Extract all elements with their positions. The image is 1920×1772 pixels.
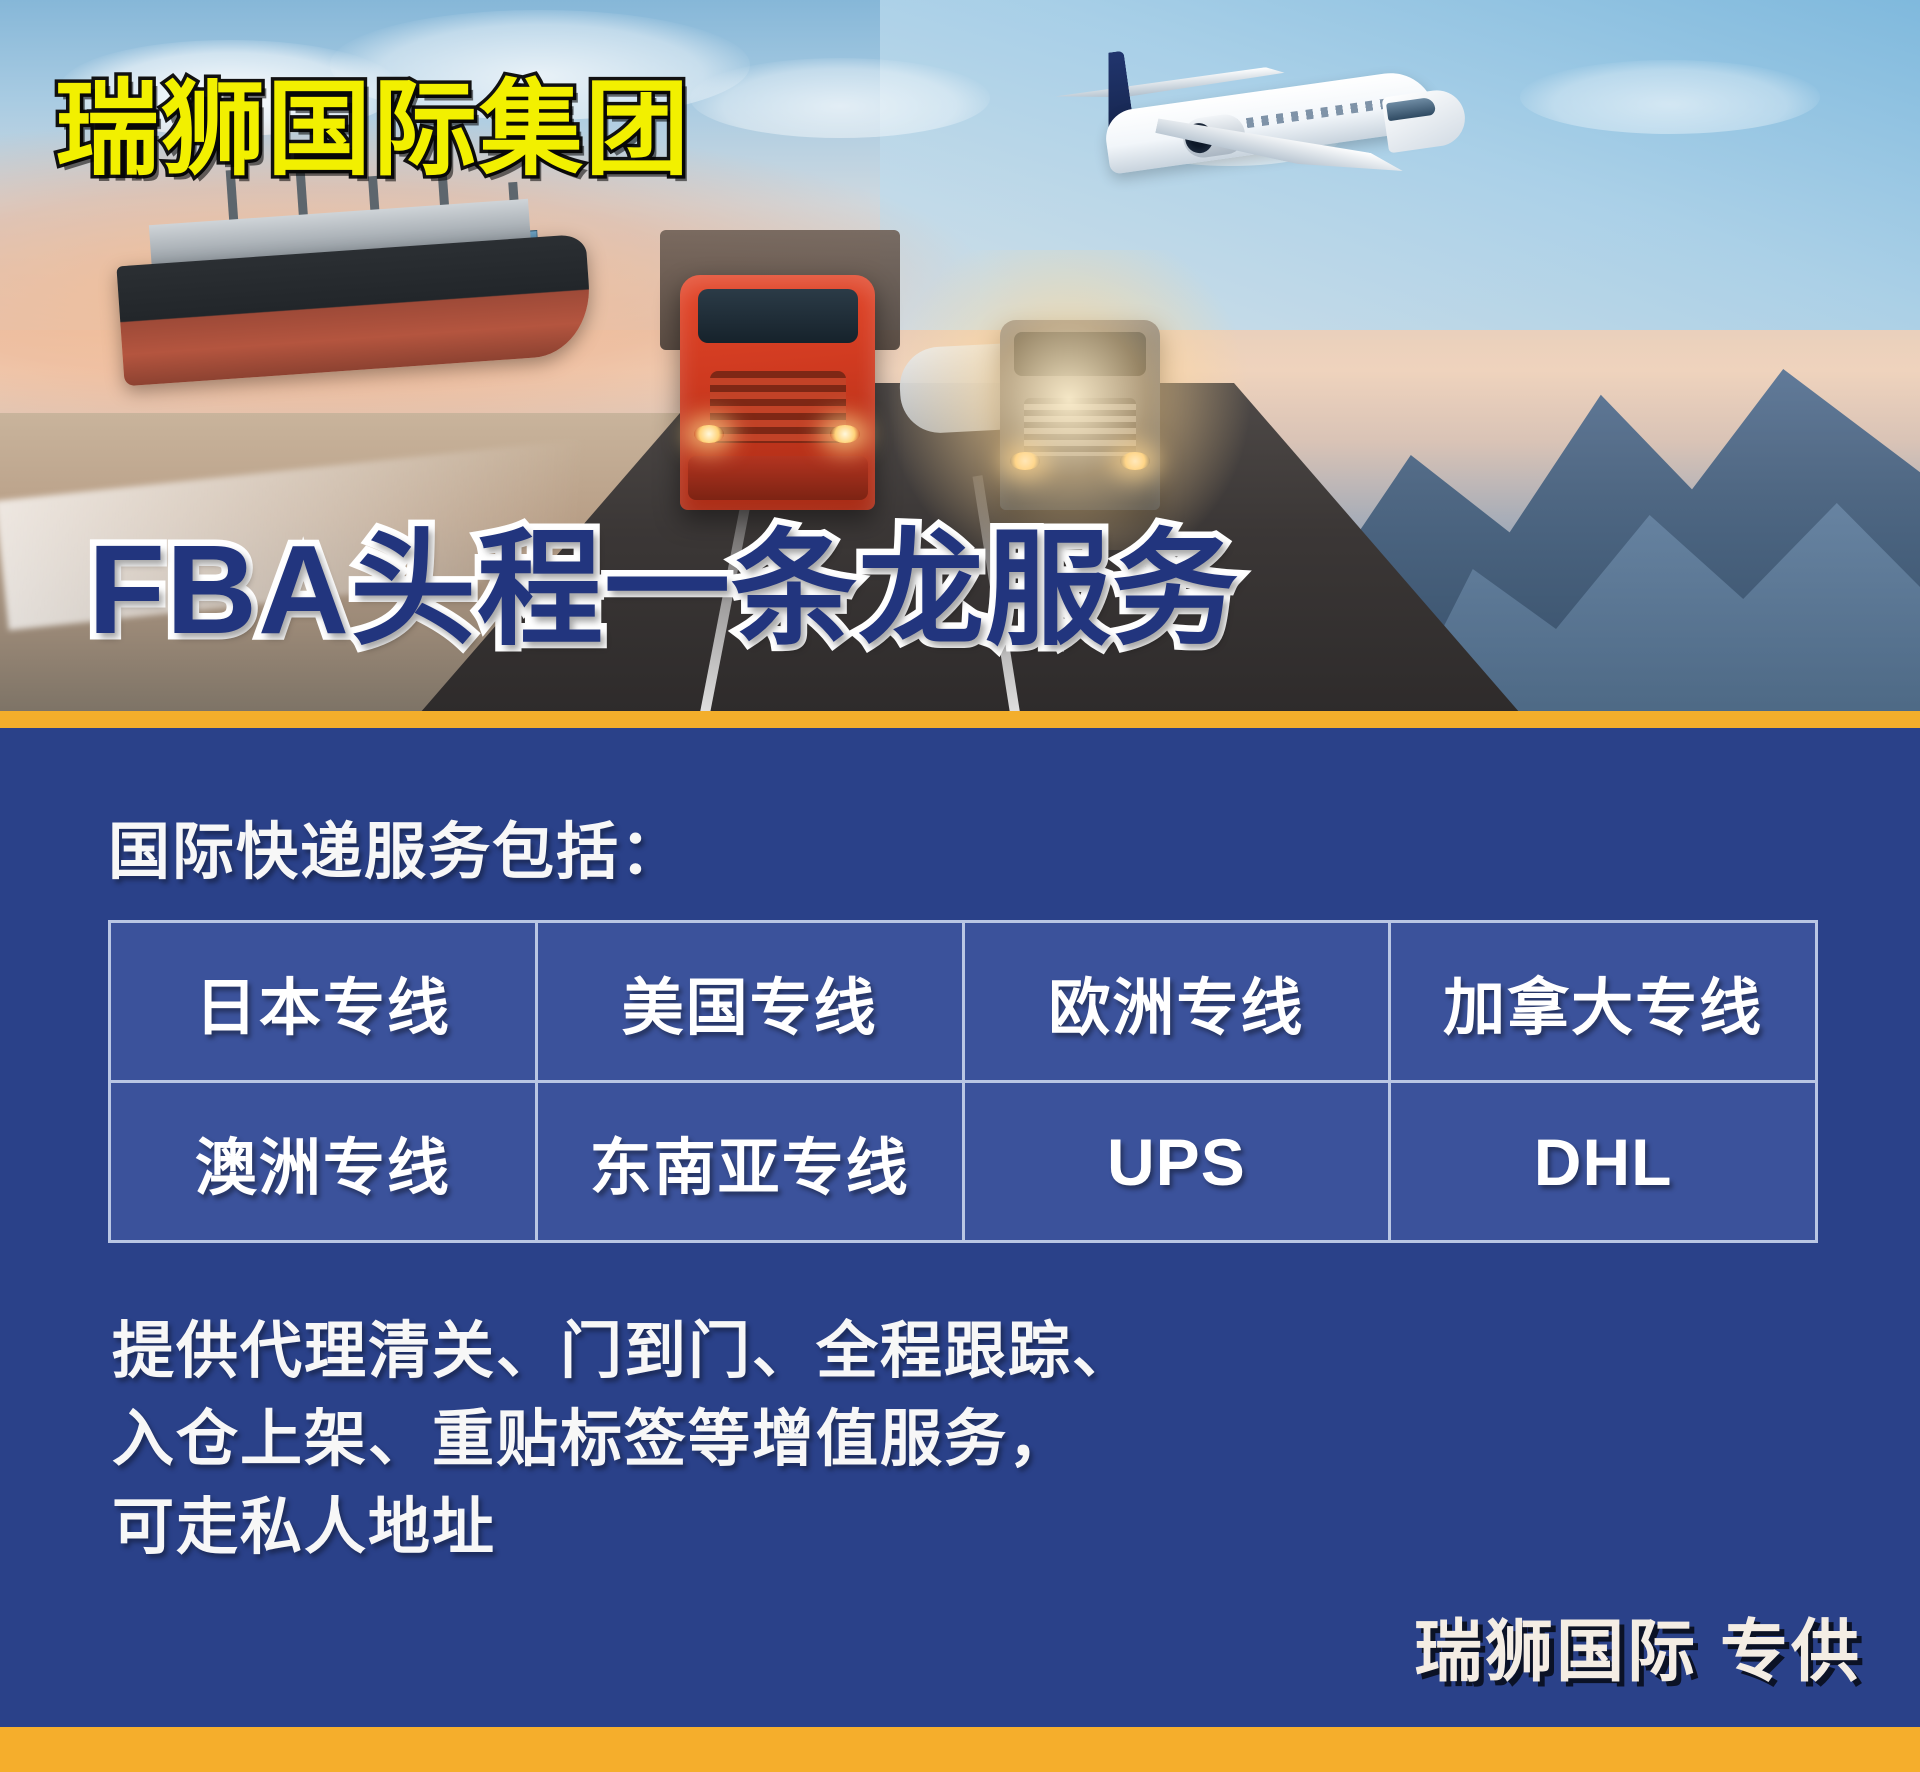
cloud-icon	[1520, 60, 1820, 134]
services-table: 日本专线 美国专线 欧洲专线 加拿大专线 澳洲专线 东南亚专线 UPS DHL	[108, 920, 1818, 1243]
service-cell-ups[interactable]: UPS	[963, 1082, 1390, 1242]
info-panel: 国际快递服务包括： 日本专线 美国专线 欧洲专线 加拿大专线 澳洲专线 东南亚专…	[0, 728, 1920, 1728]
hero-headline: FBA头程一条龙服务	[88, 527, 1239, 653]
service-cell-japan[interactable]: 日本专线	[110, 922, 537, 1082]
red-truck-icon	[680, 275, 875, 510]
body-line-1: 提供代理清关、门到门、全程跟踪、	[112, 1308, 1512, 1396]
yellow-divider	[0, 711, 1920, 728]
body-line-2: 入仓上架、重贴标签等增值服务，	[112, 1396, 1512, 1484]
section-title: 国际快递服务包括：	[108, 801, 684, 891]
table-row: 日本专线 美国专线 欧洲专线 加拿大专线	[110, 922, 1817, 1082]
service-cell-australia[interactable]: 澳洲专线	[110, 1082, 537, 1242]
body-line-3: 可走私人地址	[112, 1484, 1512, 1572]
service-cell-dhl[interactable]: DHL	[1390, 1082, 1817, 1242]
table-row: 澳洲专线 东南亚专线 UPS DHL	[110, 1082, 1817, 1242]
service-cell-canada[interactable]: 加拿大专线	[1390, 922, 1817, 1082]
poster-root: 瑞狮国际集团 FBA头程一条龙服务 国际快递服务包括： 日本专线 美国专线 欧洲…	[0, 0, 1920, 1772]
hero-banner: 瑞狮国际集团 FBA头程一条龙服务	[0, 0, 1920, 713]
brand-title: 瑞狮国际集团	[55, 78, 691, 182]
service-cell-europe[interactable]: 欧洲专线	[963, 922, 1390, 1082]
bottom-accent-bar	[0, 1727, 1920, 1772]
service-cell-usa[interactable]: 美国专线	[536, 922, 963, 1082]
footer-credit: 瑞狮国际 专供	[1414, 1596, 1862, 1695]
service-cell-southeast-asia[interactable]: 东南亚专线	[536, 1082, 963, 1242]
value-added-services-text: 提供代理清关、门到门、全程跟踪、 入仓上架、重贴标签等增值服务， 可走私人地址	[112, 1308, 1512, 1572]
airplane-icon	[1035, 30, 1465, 240]
sun-flare	[880, 250, 1300, 550]
